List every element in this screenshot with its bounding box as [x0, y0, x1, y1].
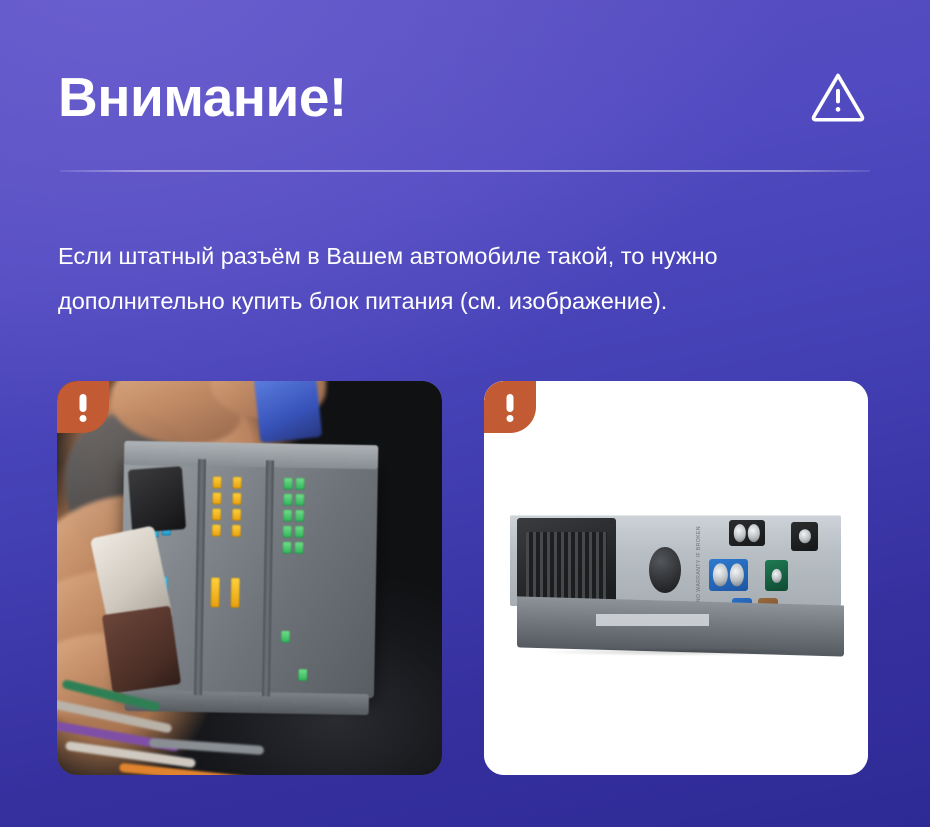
exclamation-dot — [80, 415, 87, 422]
exclamation-badge-icon — [57, 381, 109, 433]
connector-photo — [57, 381, 442, 775]
attention-banner: Внимание! Если штатный разъём в Вашем ав… — [0, 0, 930, 827]
notice-line-1: Если штатный разъём в Вашем автомобиле т… — [58, 243, 718, 269]
exclamation-dot — [506, 415, 513, 422]
warning-triangle-icon — [810, 69, 866, 125]
notice-line-2: дополнительно купить блок питания (см. и… — [58, 279, 870, 324]
exclamation-badge-icon — [484, 381, 536, 433]
notice-paragraph: Если штатный разъём в Вашем автомобиле т… — [58, 234, 870, 324]
power-supply-photo-card[interactable]: NO WARRANTY IF BROKEN — [484, 381, 869, 775]
header-divider — [60, 170, 870, 172]
exclamation-stem — [80, 394, 87, 412]
image-card-row: NO WARRANTY IF BROKEN — [57, 381, 868, 775]
exclamation-stem — [506, 394, 513, 412]
page-title: Внимание! — [58, 70, 347, 125]
power-supply-photo: NO WARRANTY IF BROKEN — [484, 381, 869, 775]
connector-photo-card[interactable] — [57, 381, 442, 775]
banner-header: Внимание! — [58, 52, 872, 142]
